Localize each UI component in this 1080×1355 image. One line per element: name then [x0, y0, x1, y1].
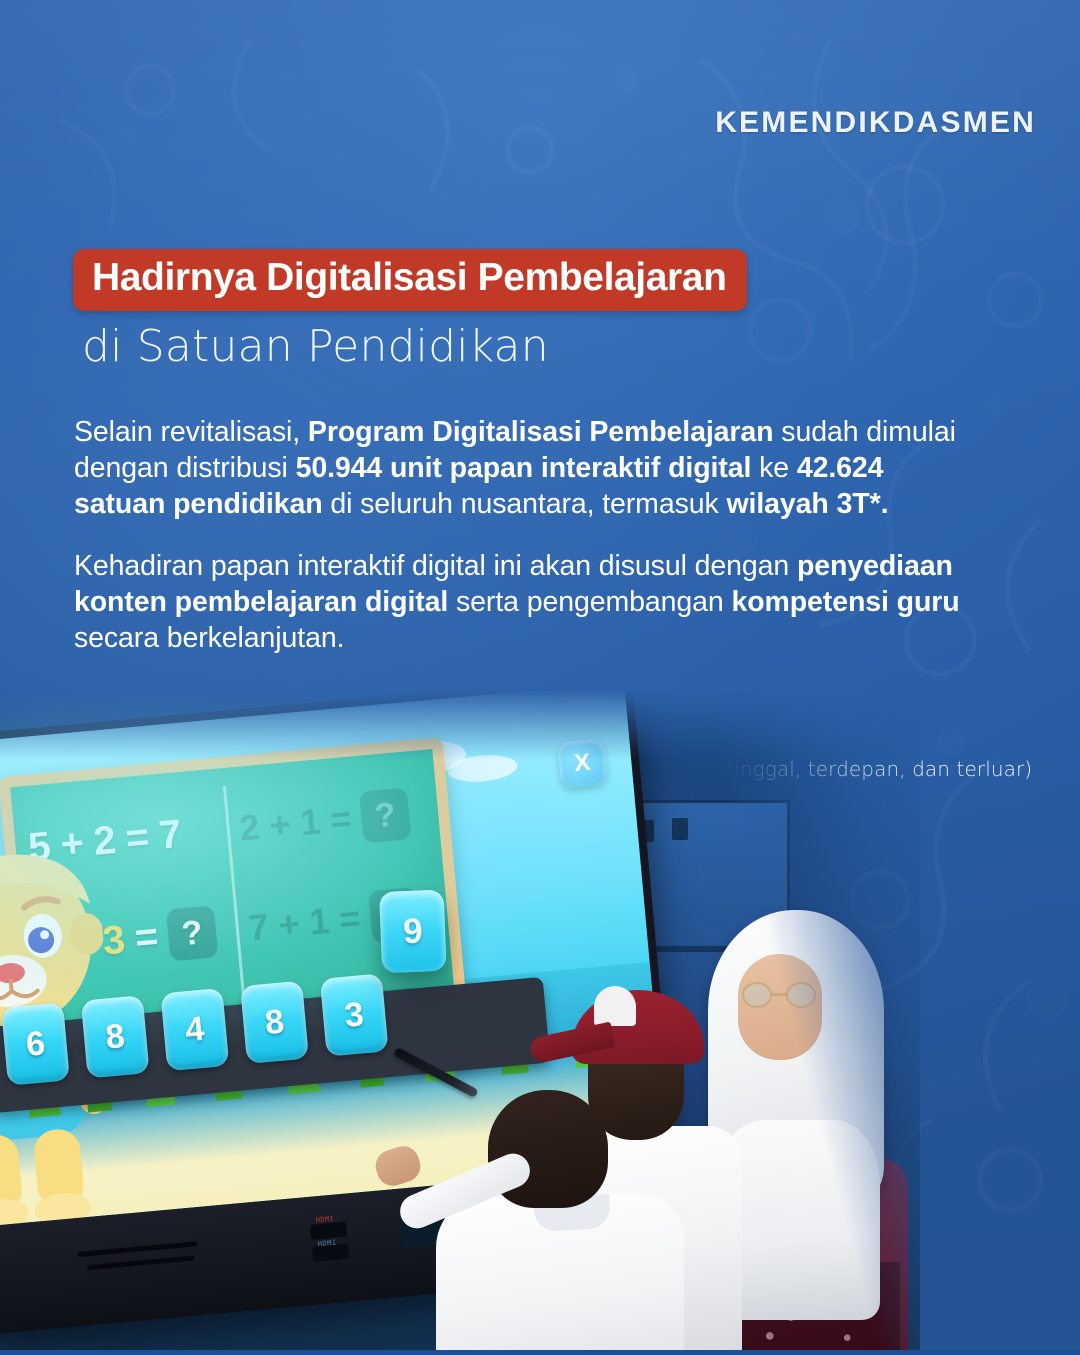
- emphasis-text: wilayah 3T*.: [726, 488, 888, 520]
- plain-text: secara berkelanjutan.: [74, 622, 344, 654]
- port-label: HDMI: [315, 1215, 335, 1225]
- classroom-photo: 5 + 2 = 7 6 + 3 = ?: [0, 690, 920, 1350]
- operator: +: [268, 803, 293, 847]
- equals-sign: =: [124, 814, 151, 861]
- speaker-vent: [87, 1256, 195, 1271]
- number-tile-dragged[interactable]: 9: [379, 890, 447, 974]
- operand-a: 2: [238, 806, 262, 850]
- paragraph-1: Selain revitalisasi, Program Digitalisas…: [74, 414, 974, 522]
- body-copy: Selain revitalisasi, Program Digitalisas…: [74, 414, 974, 682]
- student-front-figure: [430, 1090, 680, 1350]
- answer-slot[interactable]: ?: [359, 787, 412, 843]
- plain-text: serta pengembangan: [448, 586, 731, 618]
- close-icon[interactable]: X: [557, 738, 607, 788]
- plain-text: di seluruh nusantara, termasuk: [323, 488, 727, 520]
- operator: +: [277, 903, 302, 947]
- operand-b: 1: [308, 900, 332, 944]
- paragraph-2: Kehadiran papan interaktif digital ini a…: [74, 548, 974, 656]
- port-label: HDMI: [317, 1239, 337, 1249]
- speaker-vent: [78, 1241, 198, 1257]
- number-tile[interactable]: 8: [240, 981, 309, 1064]
- number-tile[interactable]: 4: [160, 988, 229, 1071]
- equals-sign: =: [328, 798, 353, 842]
- number-tile[interactable]: 8: [81, 995, 150, 1078]
- equation-row: 2 + 1 = ?: [235, 760, 447, 878]
- plain-text: ke: [751, 452, 797, 484]
- emphasis-text: 50.944 unit papan interaktif digital: [296, 452, 752, 484]
- operand-b: 1: [298, 800, 322, 844]
- headline-subtitle: di Satuan Pendidikan: [82, 321, 549, 372]
- shelf-object: [672, 818, 688, 840]
- headline-banner: Hadirnya Digitalisasi Pembelajaran: [73, 249, 747, 311]
- operand-a: 7: [247, 906, 271, 950]
- answer-value: 7: [157, 812, 183, 859]
- headline-banner-text: Hadirnya Digitalisasi Pembelajaran: [92, 256, 727, 300]
- number-tile[interactable]: 6: [1, 1002, 70, 1085]
- equals-sign: =: [337, 897, 362, 941]
- cap-front-panel: [594, 986, 636, 1026]
- emphasis-text: Program Digitalisasi Pembelajaran: [308, 416, 774, 448]
- emphasis-text: kompetensi guru: [731, 586, 959, 618]
- answer-slot[interactable]: ?: [166, 905, 219, 961]
- plain-text: Kehadiran papan interaktif digital ini a…: [74, 550, 797, 582]
- glasses-icon: [742, 982, 816, 1008]
- equals-sign: =: [133, 914, 160, 961]
- number-tile[interactable]: 3: [320, 973, 389, 1056]
- kemendikdasmen-logo: KEMENDIKDASMEN: [715, 106, 1036, 140]
- plain-text: Selain revitalisasi,: [74, 416, 308, 448]
